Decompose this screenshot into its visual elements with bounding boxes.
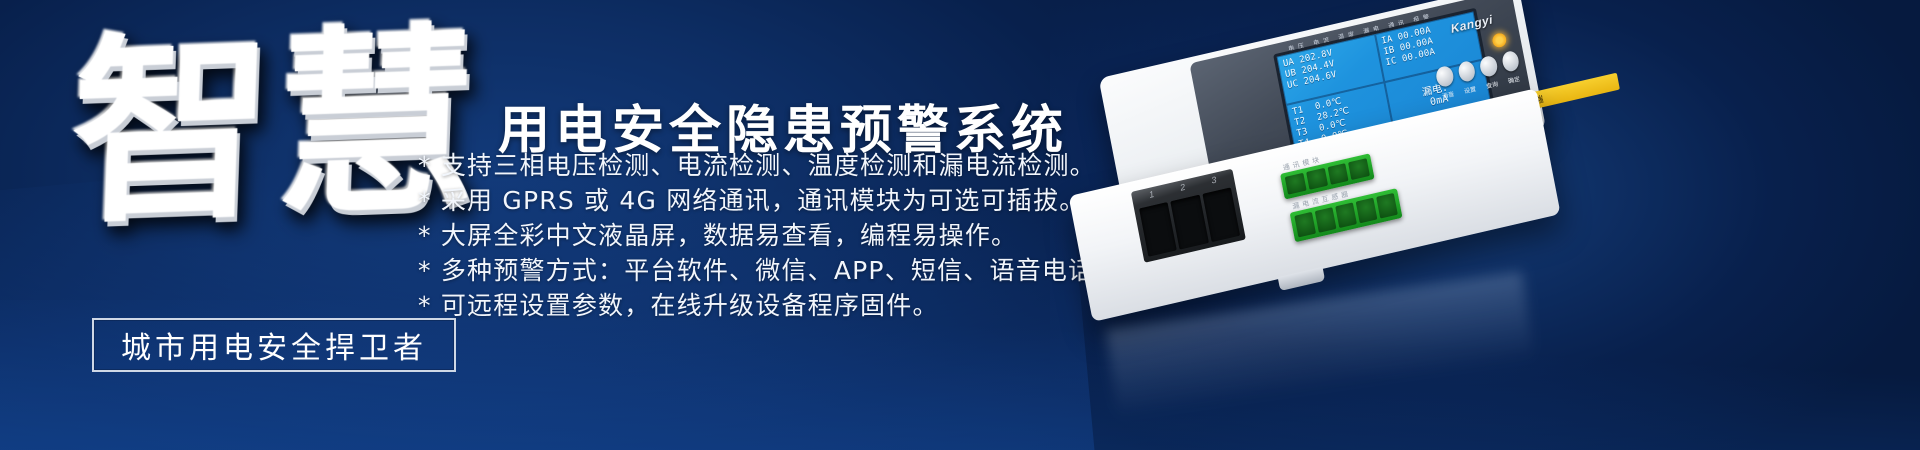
product-device-image: 电压 电流 温度 漏电 通讯 报警 UA 202.8V UB 204.4V UC…: [1085, 10, 1585, 340]
tagline-text: 城市用电安全捍卫者: [121, 323, 427, 367]
device-body: 电压 电流 温度 漏电 通讯 报警 UA 202.8V UB 204.4V UC…: [1099, 0, 1562, 304]
list-item: * 多种预警方式：平台软件、微信、APP、短信、语音电话等等。: [418, 255, 1173, 287]
calligraphy-text: 智慧: [68, 21, 466, 234]
terminal-pin: [1356, 198, 1378, 224]
list-item: * 采用 GPRS 或 4G 网络通讯，通讯模块为可选可插拔。: [418, 185, 1173, 217]
terminal-pin: [1335, 202, 1357, 228]
feature-list: * 支持三相电压检测、电流检测、温度检测和漏电流检测。 * 采用 GPRS 或 …: [418, 150, 1173, 325]
terminal-pin: [1285, 173, 1307, 195]
list-item: * 可远程设置参数，在线升级设备程序固件。: [418, 290, 1173, 322]
terminal-pin: [1171, 195, 1209, 250]
mute-icon[interactable]: 消音: [1435, 65, 1455, 88]
button-label-query: 查询: [1485, 79, 1498, 91]
tagline-box: 城市用电安全捍卫者: [92, 318, 456, 372]
terminal-pin: [1315, 207, 1337, 233]
sun-icon: [1491, 32, 1507, 49]
terminal-pin: [1327, 163, 1349, 185]
list-item: * 支持三相电压检测、电流检测、温度检测和漏电流检测。: [418, 150, 1173, 182]
connector-number-1: 1: [1149, 189, 1154, 200]
list-item: * 大屏全彩中文液晶屏，数据易查看，编程易操作。: [418, 220, 1173, 252]
up-arrow-icon[interactable]: 查询: [1478, 55, 1498, 78]
connector-number-3: 3: [1211, 174, 1216, 185]
check-icon[interactable]: 确定: [1500, 50, 1520, 73]
promo-banner: 智慧 城市用电安全捍卫者 用电安全隐患预警系统 * 支持三相电压检测、电流检测、…: [0, 0, 1920, 450]
terminal-pin: [1202, 187, 1240, 242]
terminal-pin: [1294, 212, 1316, 238]
gear-icon[interactable]: 设置: [1457, 60, 1477, 83]
connector-number-2: 2: [1180, 182, 1185, 193]
terminal-pin: [1348, 158, 1370, 180]
terminal-pin: [1306, 168, 1328, 190]
button-label-confirm: 确定: [1507, 74, 1520, 86]
din-rail-clip: [1278, 267, 1325, 291]
calligraphy-block: 智慧: [72, 28, 462, 278]
terminal-pin: [1376, 193, 1398, 219]
